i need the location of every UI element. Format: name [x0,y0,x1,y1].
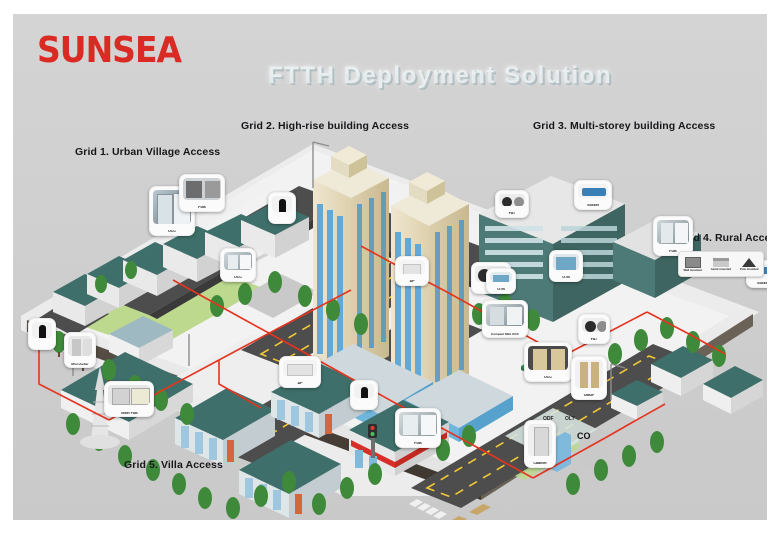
cabinet-icon [528,424,552,456]
fdb-panel-icon [183,178,221,200]
callout-label: Socket [747,282,767,286]
legend-item-pole: Pole mounted [740,258,759,271]
callout-socket-multistorey[interactable]: Socket [574,180,612,210]
grid-caption-2: Grid 2. High-rise building Access [241,120,409,132]
callout-cabinet[interactable]: Cabinet [524,420,556,468]
callout-label: AP [396,280,428,284]
mounting-legend: Wall mounted Aerial mounted Pole mounted [678,251,764,277]
grid-caption-1: Grid 1. Urban Village Access [75,146,220,158]
fdb-cabinet-icon [399,412,437,436]
closure-icon [272,196,292,212]
compact-mini-occ-icon [486,304,524,326]
benches [445,504,491,520]
ap-device-icon [399,260,425,274]
socket-icon [578,184,608,198]
grid-caption-3: Grid 3. Multi-storey building Access [533,120,715,132]
callout-label: FAT [496,212,528,216]
callout-occ-rack[interactable]: OCC [524,342,572,382]
pole-mount-icon [742,258,756,267]
callout-fat-right[interactable]: FAT [578,314,610,344]
callout-occ-mid[interactable]: OCC [220,248,256,282]
occ-cabinet-icon [224,252,252,270]
callout-label: Compact Mini OCC [483,333,527,336]
callout-label: FAT [579,338,609,342]
closure-icon [354,384,374,398]
callout-pole-device-1[interactable] [268,192,296,224]
ap-device-icon [283,360,317,376]
site-label-co: CO [577,431,591,441]
omdf-frame-icon [575,360,603,388]
otb-box-icon [490,272,512,282]
callout-label: OCC [525,376,571,380]
callout-tower-fdb[interactable]: Tower FDB [104,381,154,417]
callout-fat-multistorey[interactable]: FAT [495,190,529,218]
aerial-mount-icon [713,258,729,267]
callout-label: AP [280,382,320,386]
callout-closure-villa[interactable] [350,380,378,410]
sunsea-logo: SUNSEA [37,32,181,68]
callout-fdb-rural[interactable]: FDB [653,216,693,256]
callout-compact-mini-occ[interactable]: Compact Mini OCC [482,300,528,338]
callout-label: FDB [180,206,224,210]
mini-shelter-icon [68,336,92,356]
callout-ap-villa[interactable]: AP [279,356,321,388]
callout-label: OMDF [572,394,606,398]
site-label-olt: OLT [565,416,575,422]
callout-mini-shelter[interactable]: Mini shelter [64,332,96,368]
callout-label: OTB [487,288,515,292]
otb-box-icon [553,254,579,270]
callout-label: Mini shelter [65,363,95,366]
callout-label: Cabinet [525,462,555,466]
legend-item-aerial: Aerial mounted [711,258,731,271]
legend-label: Aerial mounted [711,267,731,271]
callout-label: OCC [150,230,194,234]
callout-label: Socket [575,204,611,208]
callout-label: OCC [221,276,255,280]
callout-label: OTB [550,276,582,280]
callout-otb-tower[interactable]: OTB [486,268,516,294]
fdb-cabinet-icon [657,220,689,244]
fat-splice-icon [499,194,525,206]
wall-mount-icon [685,257,701,268]
callout-fdb-urban[interactable]: FDB [179,174,225,212]
callout-label: FDB [396,442,440,446]
grid-caption-5: Grid 5. Villa Access [124,459,223,471]
occ-rack-icon [528,346,568,370]
tower-fdb-icon [108,385,150,405]
callout-ap-highrise[interactable]: AP [395,256,429,286]
crosswalks [409,499,447,519]
closure-icon [32,322,52,338]
callout-otb-right[interactable]: OTB [549,250,583,282]
poster-panel: SUNSEA FTTH Deployment Solution FTTH Dep… [13,14,767,520]
callout-pole-device-left[interactable] [28,318,56,350]
legend-item-wall: Wall mounted [683,257,701,272]
callout-fdb-villa[interactable]: FDB [395,408,441,448]
callout-label: Tower FDB [105,412,153,415]
fat-splice-icon [582,318,606,332]
legend-label: Wall mounted [683,268,701,272]
legend-label: Pole mounted [740,267,759,271]
callout-omdf[interactable]: OMDF [571,356,607,400]
screenshot-root: SUNSEA FTTH Deployment Solution FTTH Dep… [0,0,780,534]
